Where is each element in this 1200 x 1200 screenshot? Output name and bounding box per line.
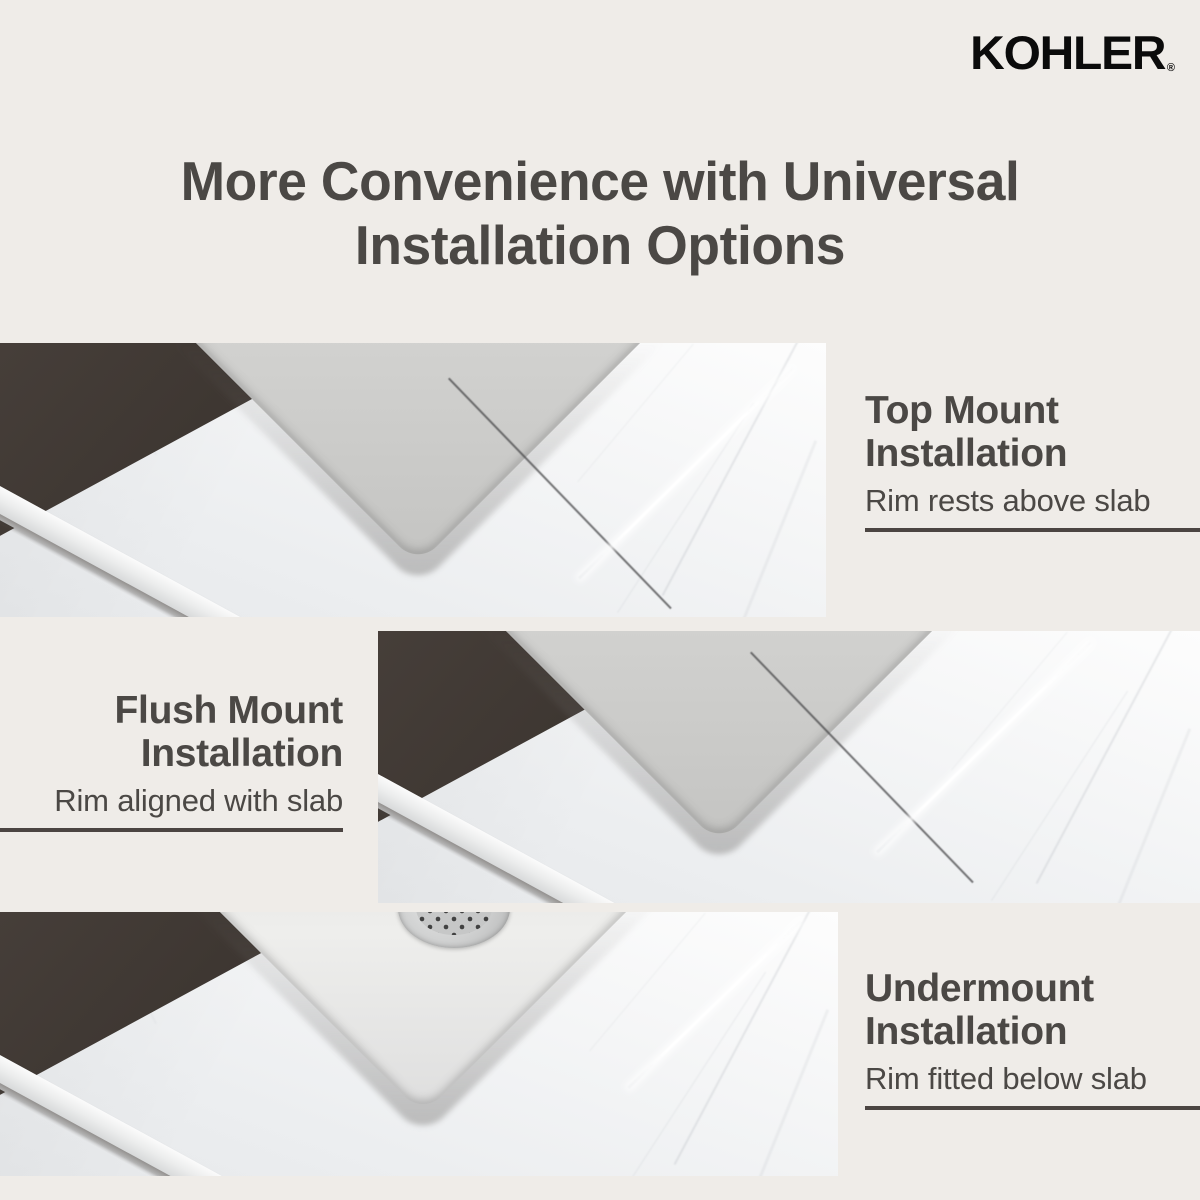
marble-vein	[748, 1009, 829, 1176]
marble-vein	[662, 343, 805, 596]
callout-heading-line-1: Flush Mount	[115, 689, 343, 732]
marble-vein	[951, 632, 1068, 771]
registered-trademark-icon: ®	[1167, 62, 1175, 76]
callout-heading-line-1: Undermount	[865, 967, 1094, 1010]
callout-flush-mount: Flush Mount Installation Rim aligned wit…	[0, 690, 343, 832]
photo-top-mount	[0, 343, 826, 617]
marketing-graphic: KOHLER ® More Convenience with Universal…	[0, 0, 1200, 1200]
kohler-logo-wordmark: KOHLER	[970, 29, 1165, 76]
marble-vein	[1036, 631, 1179, 884]
page-title-line-1: More Convenience with Universal	[181, 150, 1020, 212]
marble-vein	[674, 912, 817, 1165]
callout-heading-line-2: Installation	[141, 732, 343, 775]
callout-heading-line-2: Installation	[865, 1010, 1067, 1053]
page-title: More Convenience with Universal Installa…	[18, 150, 1182, 278]
callout-heading-line-1: Top Mount	[865, 389, 1059, 432]
photo-flush-mount	[378, 631, 1200, 903]
marble-vein	[1110, 728, 1191, 903]
marble-vein	[617, 403, 754, 613]
callout-subtitle: Rim fitted below slab	[865, 1060, 1200, 1097]
callout-heading: Flush Mount Installation	[0, 690, 343, 776]
callout-subtitle: Rim rests above slab	[865, 482, 1200, 519]
marble-vein	[629, 972, 766, 1176]
kohler-logo: KOHLER ®	[965, 30, 1175, 76]
callout-divider	[865, 1106, 1200, 1110]
marble-vein	[736, 440, 817, 617]
callout-heading-line-2: Installation	[865, 432, 1067, 475]
callout-top-mount: Top Mount Installation Rim rests above s…	[865, 390, 1200, 532]
callout-subtitle: Rim aligned with slab	[0, 782, 343, 819]
drain-perforations	[416, 912, 492, 935]
callout-divider	[0, 828, 343, 832]
callout-undermount: Undermount Installation Rim fitted below…	[865, 968, 1200, 1110]
photo-undermount	[0, 912, 838, 1176]
callout-divider	[865, 528, 1200, 532]
marble-vein	[991, 691, 1128, 901]
page-title-line-2: Installation Options	[18, 214, 1182, 278]
callout-heading: Undermount Installation	[865, 968, 1200, 1054]
callout-heading: Top Mount Installation	[865, 390, 1200, 476]
